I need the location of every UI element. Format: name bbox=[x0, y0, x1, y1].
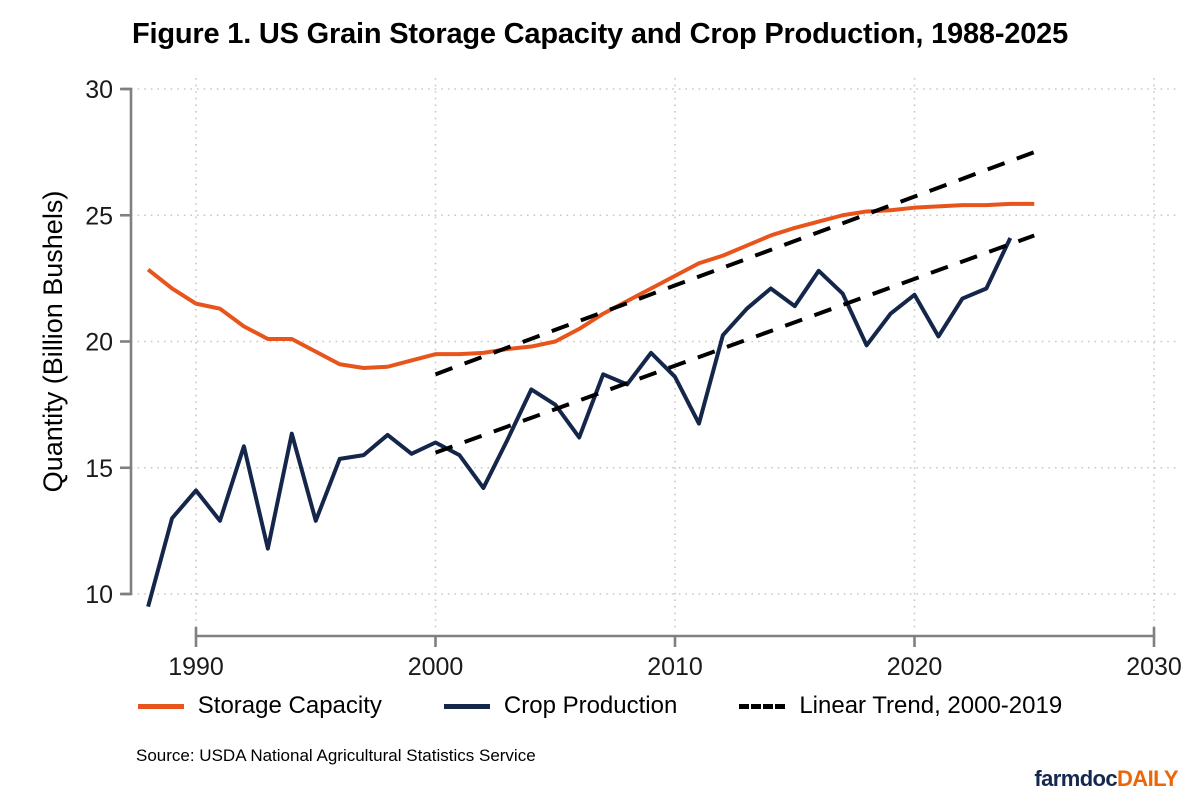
series-line-linear-trend-2000-2019-storage-capacity bbox=[436, 152, 1035, 374]
axis-lines bbox=[122, 89, 1154, 636]
series-paths bbox=[148, 152, 1034, 607]
y-tick-label: 15 bbox=[85, 455, 113, 483]
logo-text-farmdoc: farmdoc bbox=[1034, 766, 1117, 791]
legend-label-linear-trend: Linear Trend, 2000-2019 bbox=[799, 692, 1062, 720]
y-axis-title-text: Quantity (Billion Bushels) bbox=[38, 191, 68, 493]
series-line-storage-capacity bbox=[148, 204, 1034, 368]
x-tick-label: 2030 bbox=[1126, 653, 1182, 680]
legend-swatch-storage-capacity bbox=[138, 704, 184, 709]
x-tick-label: 2010 bbox=[647, 653, 703, 680]
x-axis-tick-labels: 19902000201020202030 bbox=[168, 653, 1182, 680]
x-axis-line bbox=[196, 627, 1154, 636]
y-tick-label: 10 bbox=[85, 581, 113, 609]
y-axis-tick-labels: 1015202530 bbox=[85, 76, 113, 609]
y-tick-label: 30 bbox=[85, 76, 113, 104]
series-line-crop-production bbox=[148, 238, 1010, 607]
legend-item-linear-trend: Linear Trend, 2000-2019 bbox=[739, 692, 1062, 720]
y-axis-title: Quantity (Billion Bushels) bbox=[38, 191, 68, 493]
legend-label-crop-production: Crop Production bbox=[504, 692, 677, 720]
chart-plot-area: 1015202530 19902000201020202030 Quantity… bbox=[0, 0, 1200, 680]
y-tick-label: 20 bbox=[85, 329, 113, 357]
legend-swatch-linear-trend bbox=[739, 704, 785, 709]
y-tick-label: 25 bbox=[85, 202, 113, 230]
source-note: Source: USDA National Agricultural Stati… bbox=[136, 746, 536, 766]
x-tick-label: 2020 bbox=[887, 653, 943, 680]
tick-marks bbox=[120, 89, 1154, 647]
legend-item-storage-capacity: Storage Capacity bbox=[138, 692, 382, 720]
figure-container: Figure 1. US Grain Storage Capacity and … bbox=[0, 0, 1200, 800]
series-line-linear-trend-2000-2019-crop-production bbox=[436, 235, 1035, 452]
logo-text-daily: DAILY bbox=[1117, 766, 1178, 791]
chart-legend: Storage Capacity Crop Production Linear … bbox=[0, 692, 1200, 720]
x-tick-label: 1990 bbox=[168, 653, 224, 680]
x-tick-label: 2000 bbox=[408, 653, 464, 680]
legend-item-crop-production: Crop Production bbox=[444, 692, 677, 720]
legend-label-storage-capacity: Storage Capacity bbox=[198, 692, 382, 720]
legend-swatch-crop-production bbox=[444, 704, 490, 709]
farmdoc-daily-logo: farmdocDAILY bbox=[1034, 766, 1178, 792]
